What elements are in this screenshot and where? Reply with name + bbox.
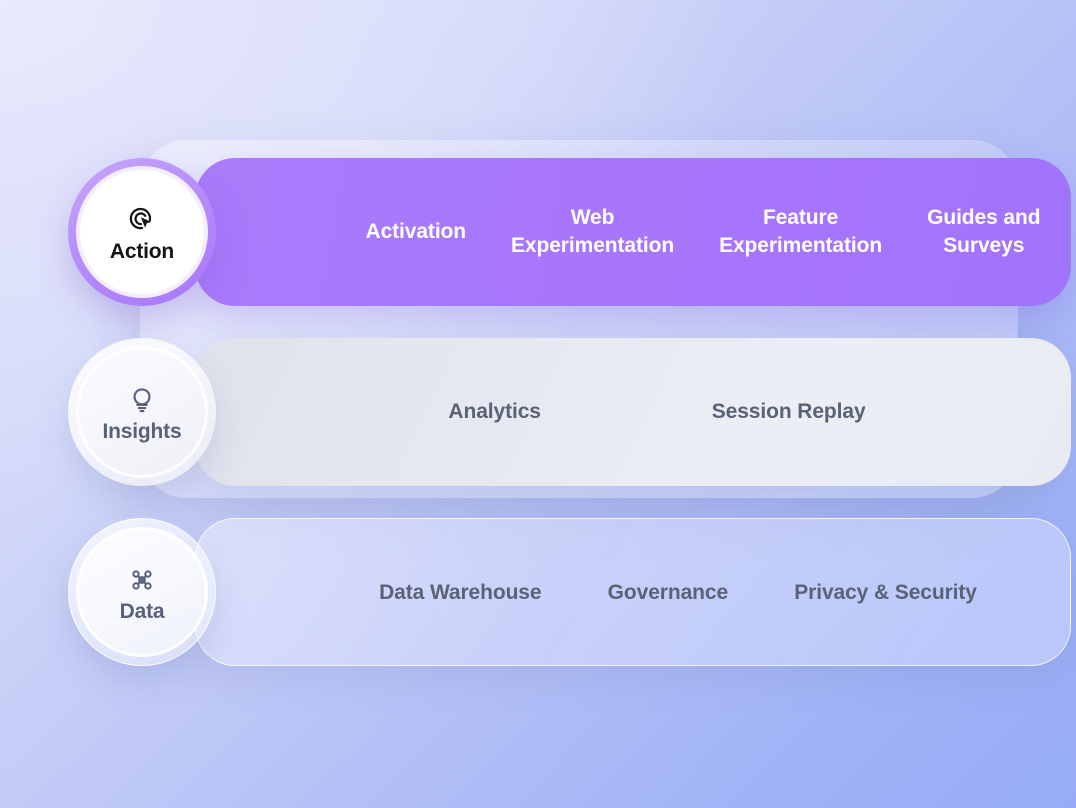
badge-data-label: Data [120,601,165,622]
badge-action[interactable]: Action [68,158,216,306]
platform-stack-diagram: Activation Web Experimentation Feature E… [0,0,1076,808]
item-feature-experimentation[interactable]: Feature Experimentation [713,204,888,259]
network-nodes-icon [125,563,159,597]
badge-insights-inner: Insights [76,346,208,478]
row-data-items: Data Warehouse Governance Privacy & Secu… [346,519,1010,667]
item-web-experimentation[interactable]: Web Experimentation [505,204,680,259]
badge-action-label: Action [110,241,174,262]
badge-insights-label: Insights [103,421,182,442]
lightbulb-icon [125,383,159,417]
item-activation[interactable]: Activation [360,218,473,246]
item-session-replay[interactable]: Session Replay [706,398,872,426]
row-data-bar[interactable]: Data Warehouse Governance Privacy & Secu… [195,518,1071,666]
item-privacy-and-security[interactable]: Privacy & Security [788,579,983,607]
item-governance[interactable]: Governance [602,579,734,607]
badge-insights[interactable]: Insights [68,338,216,486]
badge-data[interactable]: Data [68,518,216,666]
cursor-click-icon [125,203,159,237]
item-guides-and-surveys[interactable]: Guides and Surveys [921,204,1046,259]
row-insights-bar[interactable]: Analytics Session Replay [195,338,1071,486]
row-action-items: Activation Web Experimentation Feature E… [343,158,1063,306]
item-analytics[interactable]: Analytics [442,398,546,426]
row-insights-items: Analytics Session Replay [363,338,951,486]
item-data-warehouse[interactable]: Data Warehouse [373,579,547,607]
row-action-bar[interactable]: Activation Web Experimentation Feature E… [195,158,1071,306]
badge-data-inner: Data [76,527,208,657]
badge-action-inner: Action [76,166,208,298]
